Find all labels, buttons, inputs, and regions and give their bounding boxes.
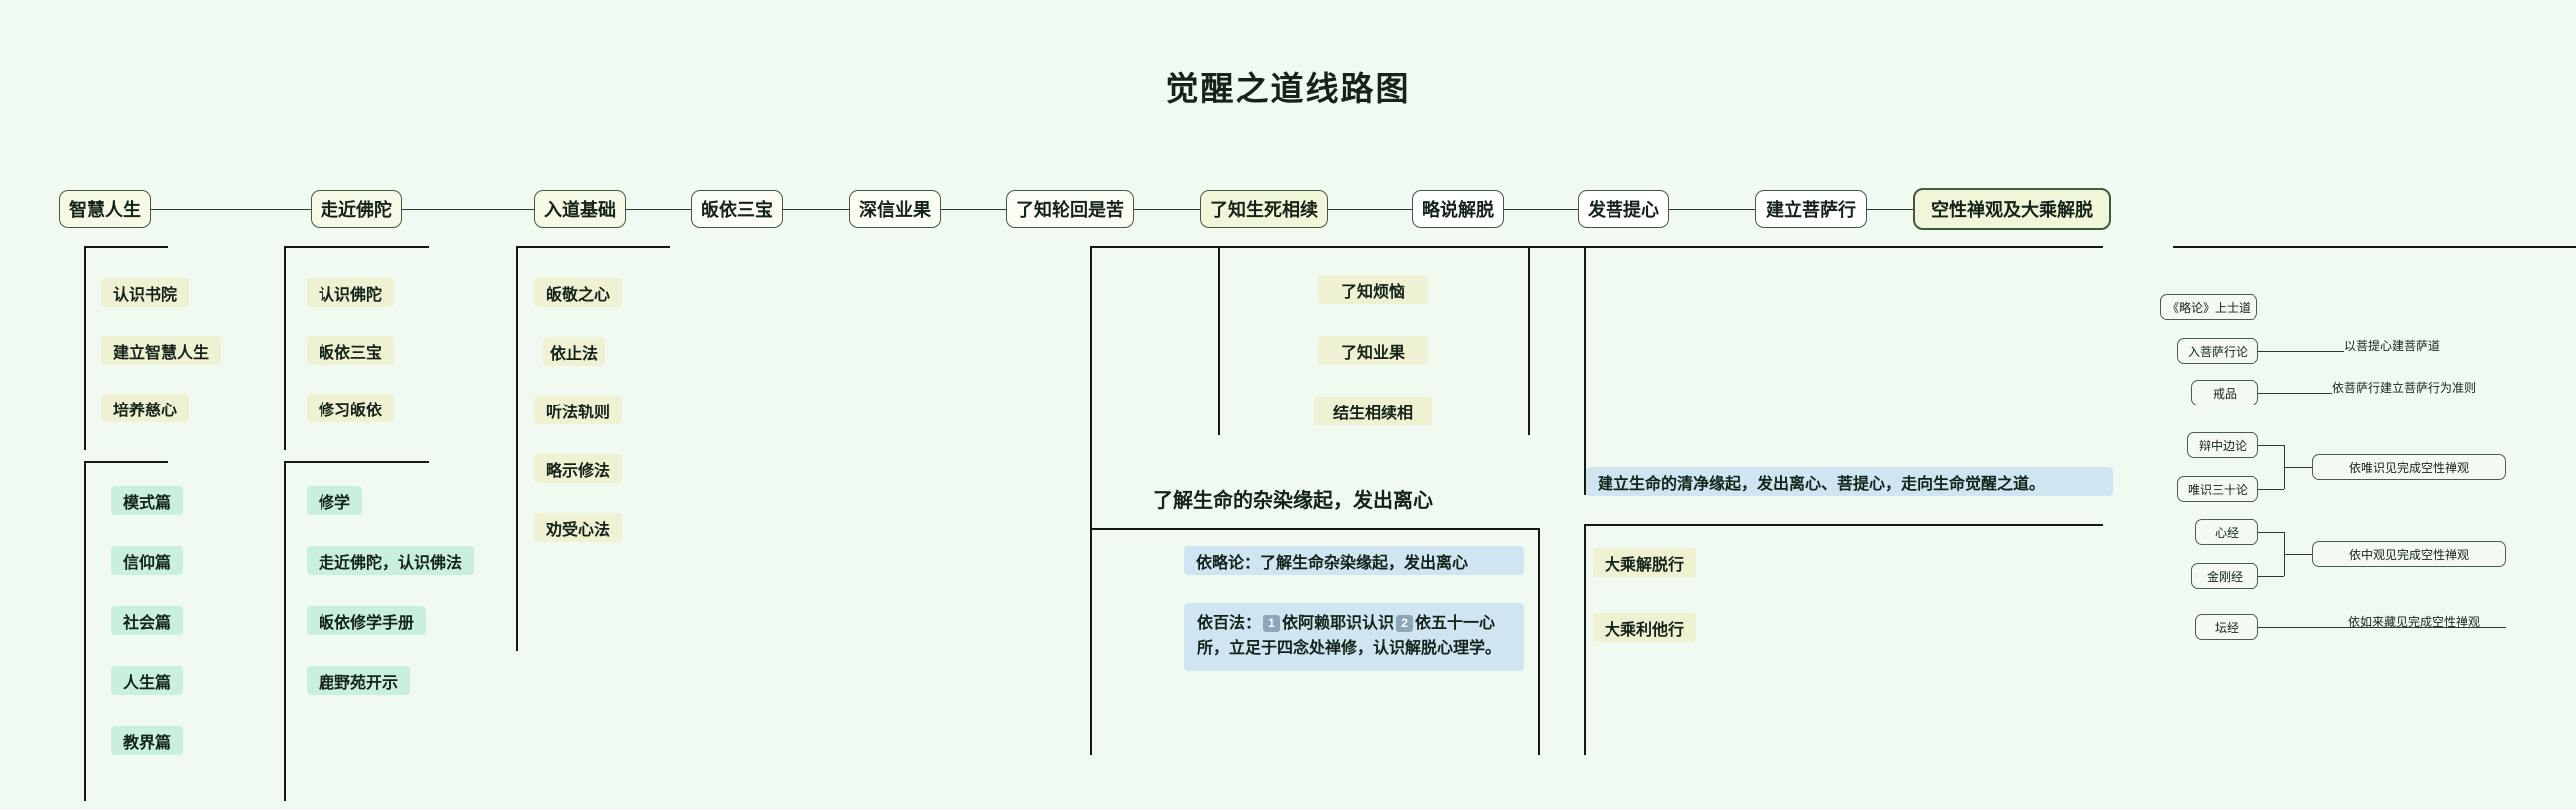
- chip-shehuipian[interactable]: 社会篇: [111, 606, 183, 635]
- chain-node-label: 了知轮回是苦: [1016, 196, 1124, 222]
- chip-label: 教界篇: [123, 729, 171, 753]
- chain-connector: [1867, 209, 1913, 210]
- chip-label: 模式篇: [123, 489, 171, 513]
- chip-renshishuyuan[interactable]: 认识书院: [101, 278, 189, 307]
- tree-connector-1: [2258, 351, 2344, 352]
- tree-annotation-label: 依唯识见完成空性禅观: [2349, 459, 2469, 476]
- chain-node-jianliposaxing[interactable]: 建立菩萨行: [1755, 190, 1867, 228]
- chip-label: 大乘解脱行: [1605, 551, 1684, 575]
- chain-node-liaozhishengsixiangxu[interactable]: 了知生死相续: [1200, 190, 1328, 228]
- chain-connector: [1328, 209, 1412, 210]
- chip-label: 结生相续相: [1333, 400, 1413, 423]
- tree-node-label: 《略论》上士道: [2167, 299, 2251, 316]
- tree-node-label: 入菩萨行论: [2188, 343, 2248, 360]
- chip-label: 修习皈依: [319, 397, 382, 420]
- marker-two: 2: [1396, 615, 1413, 632]
- chain-node-faputixin[interactable]: 发菩提心: [1578, 190, 1669, 228]
- chip-jianlizhihuirensheng[interactable]: 建立智慧人生: [101, 336, 221, 365]
- chip-label: 了知业果: [1341, 339, 1405, 363]
- chip-xiuxue[interactable]: 修学: [307, 486, 362, 515]
- tree-annotation-label: 依中观见完成空性禅观: [2349, 546, 2469, 563]
- chip-guijingzhixin[interactable]: 皈敬之心: [534, 278, 622, 307]
- tree-connector-2: [2258, 393, 2332, 394]
- chain-node-guiyisanbao[interactable]: 皈依三宝: [691, 190, 783, 228]
- tree-connector-3: [2284, 467, 2312, 468]
- chip-guiyixiuxueshouce[interactable]: 皈依修学手册: [307, 606, 426, 635]
- bracket-right-outer: [1584, 246, 2103, 495]
- tree-annotation-1: 以菩提心建菩萨道: [2344, 337, 2440, 354]
- chip-label: 信仰篇: [123, 549, 171, 573]
- chip-jiaojiepian[interactable]: 教界篇: [111, 726, 183, 755]
- chain-node-liaozhilunhuishiku[interactable]: 了知轮回是苦: [1006, 190, 1134, 228]
- chain-node-label: 智慧人生: [69, 196, 141, 222]
- chain-node-label: 皈依三宝: [701, 196, 773, 222]
- chip-quanshouxinfa[interactable]: 劝受心法: [534, 513, 622, 542]
- chip-label: 皈依修学手册: [319, 609, 414, 633]
- chain-connector: [151, 209, 311, 210]
- chip-label: 建立智慧人生: [113, 339, 209, 363]
- chip-label: 依止法: [550, 340, 598, 364]
- chain-node-zoujinfotuo[interactable]: 走近佛陀: [311, 190, 402, 228]
- chain-connector: [941, 209, 1006, 210]
- chip-dachenglitaxing[interactable]: 大乘利他行: [1593, 613, 1696, 642]
- chip-xinyangpian[interactable]: 信仰篇: [111, 546, 183, 575]
- chip-liaozhiyeguo[interactable]: 了知业果: [1318, 336, 1428, 365]
- chip-lueshixiufa[interactable]: 略示修法: [534, 454, 622, 483]
- chip-label: 人生篇: [123, 669, 171, 693]
- chain-node-rudaojichu[interactable]: 入道基础: [534, 190, 626, 228]
- chip-guiyisanbao[interactable]: 皈依三宝: [307, 336, 394, 365]
- chip-xiuxiguiyi[interactable]: 修习皈依: [307, 394, 394, 422]
- tree-node-jiepin[interactable]: 戒品: [2191, 380, 2258, 405]
- chip-label: 走近佛陀，认识佛法: [319, 549, 462, 573]
- tree-node-label: 金刚经: [2207, 568, 2243, 585]
- chip-yibaifa[interactable]: 依百法：1依阿赖耶识认识2依五十一心所，立足于四念处禅修，认识解脱心理学。: [1184, 603, 1524, 671]
- marker-one: 1: [1263, 615, 1280, 632]
- tree-join-4b: [2258, 576, 2284, 577]
- chip-zoujinfotuorenshifofa[interactable]: 走近佛陀，认识佛法: [307, 546, 474, 575]
- chip-liaozhifannao[interactable]: 了知烦恼: [1318, 275, 1428, 304]
- chip-label: 培养慈心: [113, 397, 177, 420]
- chain-connector: [1504, 209, 1578, 210]
- chain-node-label: 建立菩萨行: [1766, 196, 1856, 222]
- tree-node-label: 坛经: [2215, 619, 2239, 636]
- chip-label: 鹿野苑开示: [319, 669, 398, 693]
- chip-jieshengxiangxuxiang[interactable]: 结生相续相: [1314, 397, 1432, 425]
- chip-dachengjietuoxing[interactable]: 大乘解脱行: [1593, 548, 1696, 577]
- chain-node-lueshuojietuo[interactable]: 略说解脱: [1412, 190, 1504, 228]
- bracket-tree-top: [2173, 246, 2576, 248]
- chain-node-label: 略说解脱: [1422, 196, 1494, 222]
- tree-join-4a: [2258, 532, 2284, 533]
- tree-node-xinjing[interactable]: 心经: [2195, 519, 2258, 545]
- tree-annotation-box-4[interactable]: 依中观见完成空性禅观: [2312, 541, 2506, 567]
- tree-node-lueluna-shangshidao[interactable]: 《略论》上士道: [2160, 294, 2257, 320]
- chain-connector: [626, 209, 691, 210]
- chip-label-mid: 依阿赖耶识认识: [1282, 615, 1394, 632]
- tree-node-tanjing[interactable]: 坛经: [2195, 614, 2258, 640]
- chain-connector: [1134, 209, 1200, 210]
- chip-label: 依略论：了解生命杂染缘起，发出离心: [1196, 549, 1468, 573]
- chip-label: 了知烦恼: [1341, 278, 1405, 302]
- chain-connector: [783, 209, 849, 210]
- chain-connector: [402, 209, 534, 210]
- chain-node-label: 了知生死相续: [1210, 196, 1318, 222]
- chain-node-label: 空性禅观及大乘解脱: [1931, 196, 2093, 222]
- chain-connector: [1669, 209, 1755, 210]
- chip-moshipian[interactable]: 模式篇: [111, 486, 183, 515]
- page-title: 觉醒之道线路图: [0, 62, 2576, 110]
- chip-label: 修学: [319, 489, 350, 513]
- chip-peiyangcixin[interactable]: 培养慈心: [101, 394, 189, 422]
- chip-label: 略示修法: [546, 457, 610, 481]
- chain-node-shenxinyeguo[interactable]: 深信业果: [849, 190, 941, 228]
- chip-label: 听法轨则: [546, 399, 610, 422]
- tree-annotation-box-3[interactable]: 依唯识见完成空性禅观: [2312, 454, 2506, 480]
- chain-node-label: 走近佛陀: [321, 196, 392, 222]
- chip-qingjingyuanqi-heading[interactable]: 建立生命的清净缘起，发出离心、菩提心，走向生命觉醒之道。: [1586, 467, 2113, 496]
- chip-renshifotuo[interactable]: 认识佛陀: [307, 278, 394, 307]
- chip-label: 大乘利他行: [1605, 616, 1684, 640]
- chain-node-zhihuirensheng[interactable]: 智慧人生: [59, 190, 151, 228]
- chip-renshengpian[interactable]: 人生篇: [111, 666, 183, 695]
- chip-label: 劝受心法: [546, 516, 610, 540]
- tree-join-3b: [2258, 489, 2284, 490]
- tree-node-bianzhongbianlun[interactable]: 辩中边论: [2187, 432, 2258, 458]
- chip-label: 认识佛陀: [319, 281, 382, 305]
- chip-label: 皈依三宝: [319, 339, 382, 363]
- chip-luyeyuankaishi[interactable]: 鹿野苑开示: [307, 666, 410, 695]
- chip-label: 社会篇: [123, 609, 171, 633]
- tree-annotation-2: 依菩萨行建立菩萨行为准则: [2332, 379, 2476, 396]
- tree-node-jingangjing[interactable]: 金刚经: [2191, 563, 2258, 589]
- chain-node-label: 深信业果: [859, 196, 931, 222]
- tree-connector-4: [2284, 554, 2312, 555]
- chip-label: 皈敬之心: [546, 281, 610, 305]
- tree-join-3a: [2258, 445, 2284, 446]
- chain-node-label: 入道基础: [544, 196, 616, 222]
- tree-node-label: 唯识三十论: [2188, 481, 2248, 498]
- tree-node-rupusaxinglun[interactable]: 入菩萨行论: [2177, 338, 2258, 364]
- center-heading: 了解生命的杂染缘起，发出离心: [1153, 484, 1433, 513]
- chip-yizhifa[interactable]: 依止法: [543, 337, 605, 366]
- chip-label: 建立生命的清净缘起，发出离心、菩提心，走向生命觉醒之道。: [1598, 470, 2045, 494]
- chain-node-label: 发菩提心: [1588, 196, 1659, 222]
- tree-annotation-5: 依如来藏见完成空性禅观: [2348, 613, 2480, 630]
- tree-node-label: 心经: [2215, 524, 2239, 541]
- tree-node-label: 戒品: [2213, 385, 2237, 402]
- chip-tingfaguize[interactable]: 听法轨则: [534, 396, 622, 424]
- tree-node-label: 辩中边论: [2199, 437, 2247, 454]
- diagram-canvas: 觉醒之道线路图 智慧人生 走近佛陀 入道基础 皈依三宝 深信业果 了知轮回是苦 …: [0, 0, 2576, 810]
- tree-node-weishisanshilun[interactable]: 唯识三十论: [2177, 476, 2258, 502]
- chain-node-kongxingchanguan[interactable]: 空性禅观及大乘解脱: [1913, 188, 2111, 230]
- chip-yilvelun[interactable]: 依略论：了解生命杂染缘起，发出离心: [1184, 546, 1524, 575]
- chip-label-prefix: 依百法：: [1197, 615, 1261, 632]
- chip-label: 认识书院: [113, 281, 177, 305]
